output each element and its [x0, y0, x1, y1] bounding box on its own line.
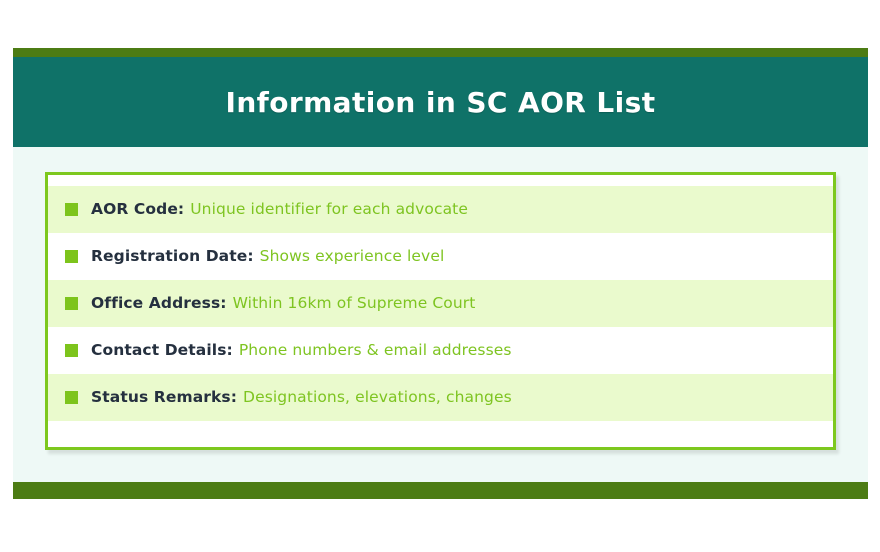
list-item-text: Status Remarks:Designations, elevations,…	[91, 390, 512, 406]
screenshot-canvas: Information in SC AOR List AOR Code:Uniq…	[0, 0, 880, 552]
list-item-text: Registration Date:Shows experience level	[91, 249, 444, 265]
page-title: Information in SC AOR List	[226, 86, 656, 119]
bullet-square-icon	[65, 203, 78, 216]
list-item-label: Contact Details:	[91, 341, 233, 359]
list-item: Contact Details:Phone numbers & email ad…	[48, 327, 833, 374]
list-item: Registration Date:Shows experience level	[48, 233, 833, 280]
list-item-label: AOR Code:	[91, 200, 184, 218]
bullet-square-icon	[65, 391, 78, 404]
bullet-square-icon	[65, 297, 78, 310]
list-item-label: Office Address:	[91, 294, 227, 312]
list-item-text: AOR Code:Unique identifier for each advo…	[91, 202, 468, 218]
bullet-square-icon	[65, 250, 78, 263]
card-body: AOR Code:Unique identifier for each advo…	[13, 147, 868, 482]
list-item-description: Shows experience level	[260, 247, 445, 265]
list-item: Office Address:Within 16km of Supreme Co…	[48, 280, 833, 327]
list-item-label: Registration Date:	[91, 247, 254, 265]
card-top-accent-bar	[13, 48, 868, 57]
bullet-square-icon	[65, 344, 78, 357]
list-item: Status Remarks:Designations, elevations,…	[48, 374, 833, 421]
list-item-description: Designations, elevations, changes	[243, 388, 512, 406]
list-item-description: Unique identifier for each advocate	[190, 200, 468, 218]
list-item-description: Phone numbers & email addresses	[239, 341, 512, 359]
list-item-label: Status Remarks:	[91, 388, 237, 406]
info-list-box: AOR Code:Unique identifier for each advo…	[45, 172, 836, 450]
list-item-description: Within 16km of Supreme Court	[233, 294, 476, 312]
list-item-text: Contact Details:Phone numbers & email ad…	[91, 343, 512, 359]
list-item-text: Office Address:Within 16km of Supreme Co…	[91, 296, 475, 312]
list-item: AOR Code:Unique identifier for each advo…	[48, 186, 833, 233]
card-bottom-accent-bar	[13, 482, 868, 499]
info-card: Information in SC AOR List AOR Code:Uniq…	[13, 48, 868, 499]
card-header: Information in SC AOR List	[13, 57, 868, 147]
